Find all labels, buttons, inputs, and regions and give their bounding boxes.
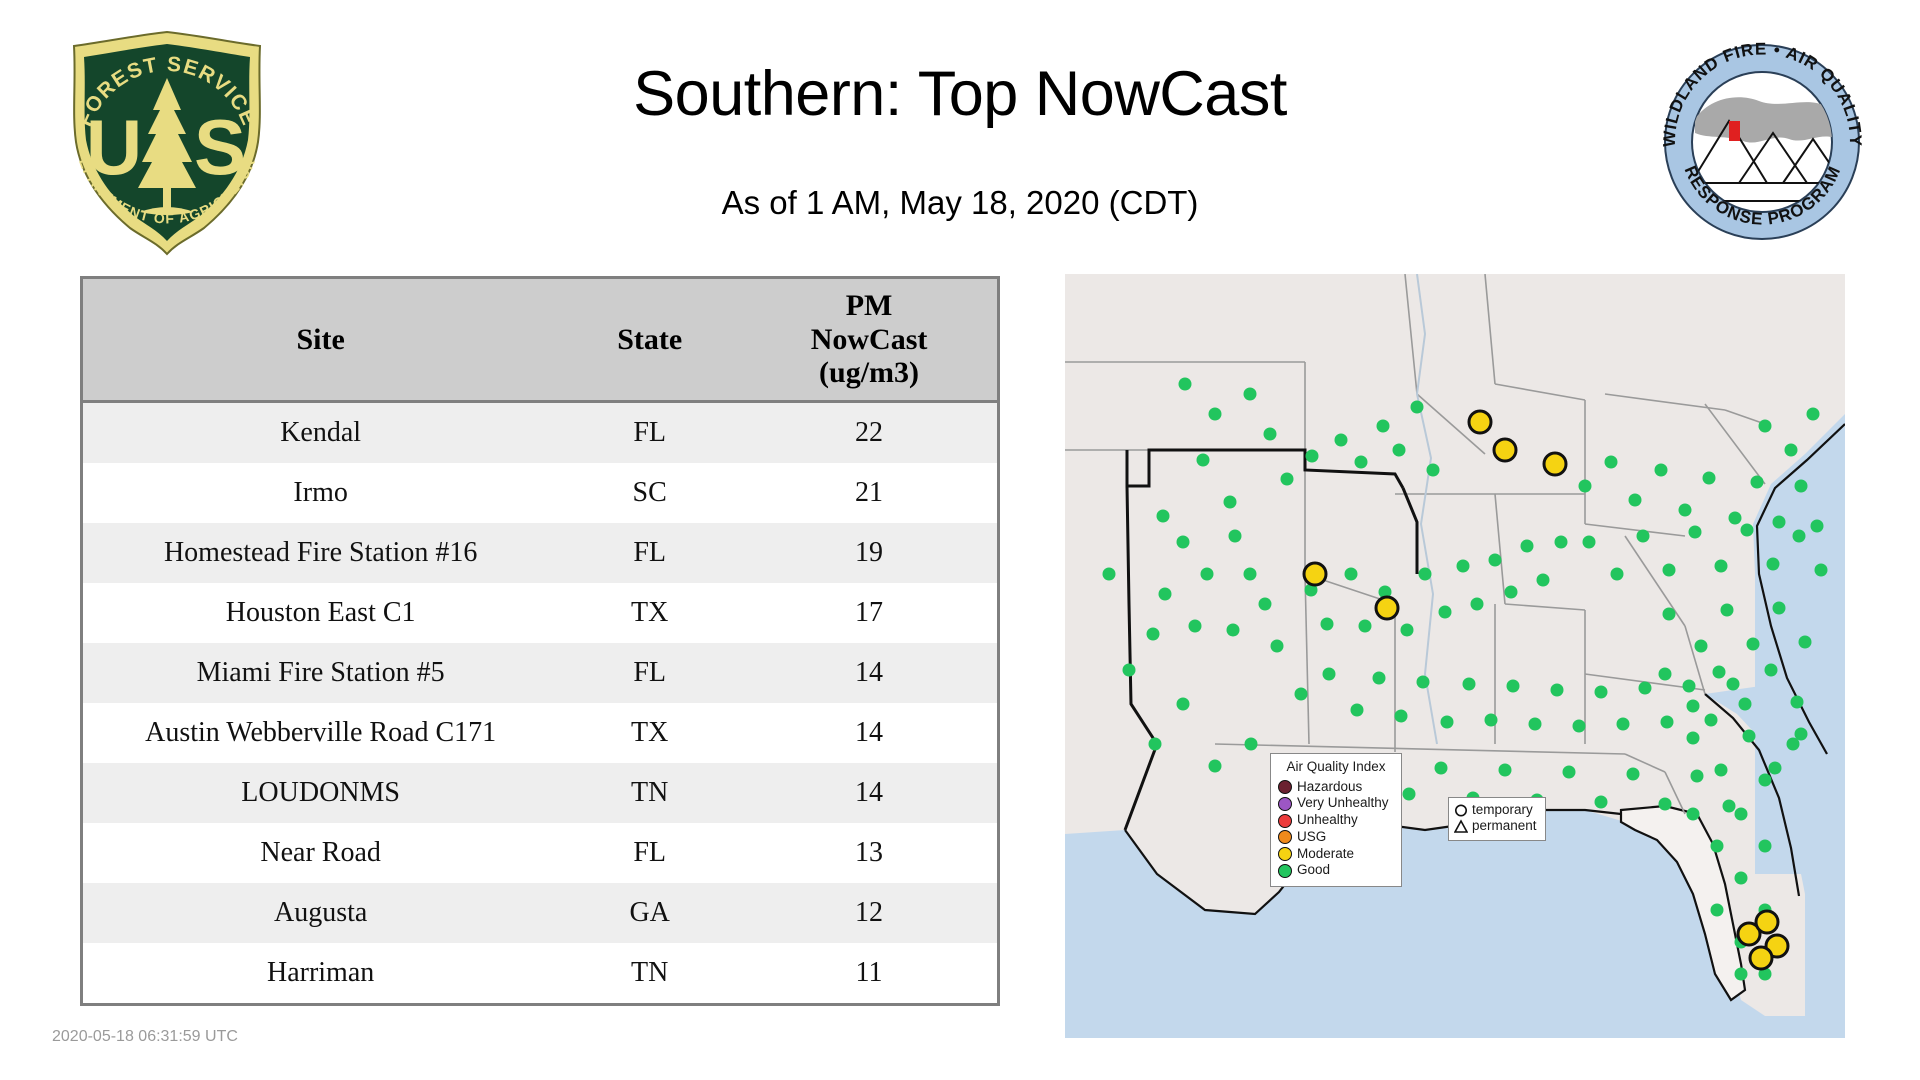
map-marker-moderate[interactable] — [1750, 947, 1772, 969]
aqi-legend-label: Hazardous — [1297, 779, 1362, 796]
map-marker-good[interactable] — [1395, 710, 1408, 723]
aqi-legend-title: Air Quality Index — [1278, 759, 1394, 776]
map-marker-good[interactable] — [1499, 764, 1512, 777]
map-marker-good[interactable] — [1689, 526, 1702, 539]
map-marker-good[interactable] — [1123, 664, 1136, 677]
table-row: Near RoadFL13 — [83, 823, 997, 883]
map-marker-good[interactable] — [1815, 564, 1828, 577]
aqi-legend-item: USG — [1278, 829, 1394, 846]
site-cell: Miami Fire Station #5 — [83, 643, 558, 703]
table-header-row: Site State PM NowCast (ug/m3) — [83, 279, 997, 401]
top-nowcast-table: Site State PM NowCast (ug/m3) KendalFL22… — [80, 276, 1000, 1006]
temporary-circle-icon — [1454, 803, 1468, 818]
map-marker-good[interactable] — [1457, 560, 1470, 573]
table-row: Homestead Fire Station #16FL19 — [83, 523, 997, 583]
map-marker-good[interactable] — [1687, 732, 1700, 745]
column-header-state: State — [558, 279, 741, 401]
table-row: Houston East C1TX17 — [83, 583, 997, 643]
map-marker-good[interactable] — [1351, 704, 1364, 717]
map-marker-good[interactable] — [1419, 568, 1432, 581]
map-marker-good[interactable] — [1505, 586, 1518, 599]
aqi-legend-item: Moderate — [1278, 846, 1394, 863]
value-cell: 14 — [741, 703, 997, 763]
map-marker-good[interactable] — [1355, 456, 1368, 469]
map-marker-good[interactable] — [1411, 401, 1424, 414]
map-marker-good[interactable] — [1637, 530, 1650, 543]
site-cell: Near Road — [83, 823, 558, 883]
map-marker-good[interactable] — [1224, 496, 1237, 509]
map-marker-good[interactable] — [1735, 872, 1748, 885]
map-marker-good[interactable] — [1177, 536, 1190, 549]
site-cell: Harriman — [83, 943, 558, 1003]
state-cell: TX — [558, 703, 741, 763]
state-cell: FL — [558, 401, 741, 463]
value-cell: 22 — [741, 401, 997, 463]
map-marker-good[interactable] — [1335, 434, 1348, 447]
legend-permanent-label: permanent — [1472, 818, 1537, 834]
value-cell: 17 — [741, 583, 997, 643]
site-cell: LOUDONMS — [83, 763, 558, 823]
map-marker-good[interactable] — [1417, 676, 1430, 689]
map-marker-good[interactable] — [1295, 688, 1308, 701]
map-marker-good[interactable] — [1729, 512, 1742, 525]
map-marker-good[interactable] — [1345, 568, 1358, 581]
map-marker-good[interactable] — [1795, 728, 1808, 741]
map-marker-good[interactable] — [1711, 840, 1724, 853]
map-canvas — [1065, 274, 1845, 1038]
map-marker-good[interactable] — [1583, 536, 1596, 549]
state-cell: TN — [558, 943, 741, 1003]
aqi-legend-label: USG — [1297, 829, 1326, 846]
map-marker-good[interactable] — [1521, 540, 1534, 553]
map-marker-good[interactable] — [1773, 602, 1786, 615]
map-marker-good[interactable] — [1713, 666, 1726, 679]
map-marker-good[interactable] — [1306, 450, 1319, 463]
state-cell: FL — [558, 823, 741, 883]
site-cell: Homestead Fire Station #16 — [83, 523, 558, 583]
map-marker-good[interactable] — [1401, 624, 1414, 637]
map-marker-good[interactable] — [1751, 476, 1764, 489]
site-cell: Austin Webberville Road C171 — [83, 703, 558, 763]
map-marker-good[interactable] — [1377, 420, 1390, 433]
pm-label-line1: PM — [745, 289, 993, 323]
table-body: KendalFL22IrmoSC21Homestead Fire Station… — [83, 401, 997, 1003]
map-marker-good[interactable] — [1711, 904, 1724, 917]
table-head: Site State PM NowCast (ug/m3) — [83, 279, 997, 401]
state-cell: SC — [558, 463, 741, 523]
map-marker-good[interactable] — [1661, 716, 1674, 729]
value-cell: 11 — [741, 943, 997, 1003]
state-cell: TX — [558, 583, 741, 643]
map-marker-good[interactable] — [1735, 808, 1748, 821]
map-marker-good[interactable] — [1715, 560, 1728, 573]
map-marker-good[interactable] — [1793, 530, 1806, 543]
map-marker-good[interactable] — [1595, 686, 1608, 699]
map-marker-good[interactable] — [1773, 516, 1786, 529]
aqi-legend-label: Very Unhealthy — [1297, 795, 1389, 812]
map-marker-good[interactable] — [1765, 664, 1778, 677]
map-marker-good[interactable] — [1785, 444, 1798, 457]
map-marker-good[interactable] — [1617, 718, 1630, 731]
map-marker-good[interactable] — [1695, 640, 1708, 653]
map-marker-good[interactable] — [1439, 606, 1452, 619]
map-marker-good[interactable] — [1727, 678, 1740, 691]
aqi-legend-label: Good — [1297, 862, 1330, 879]
map-marker-good[interactable] — [1177, 698, 1190, 711]
map-marker-good[interactable] — [1721, 604, 1734, 617]
map-marker-good[interactable] — [1359, 620, 1372, 633]
map-marker-good[interactable] — [1197, 454, 1210, 467]
map-marker-moderate[interactable] — [1494, 439, 1516, 461]
map-marker-good[interactable] — [1663, 608, 1676, 621]
map-marker-good[interactable] — [1393, 444, 1406, 457]
map-marker-good[interactable] — [1655, 464, 1668, 477]
map-marker-moderate[interactable] — [1756, 911, 1778, 933]
map-marker-good[interactable] — [1159, 588, 1172, 601]
map-marker-good[interactable] — [1149, 738, 1162, 751]
map-marker-good[interactable] — [1683, 680, 1696, 693]
value-cell: 12 — [741, 883, 997, 943]
site-cell: Kendal — [83, 401, 558, 463]
value-cell: 19 — [741, 523, 997, 583]
map-marker-good[interactable] — [1687, 700, 1700, 713]
map-marker-good[interactable] — [1795, 480, 1808, 493]
column-header-site: Site — [83, 279, 558, 401]
map-marker-good[interactable] — [1747, 638, 1760, 651]
map-marker-moderate[interactable] — [1304, 563, 1326, 585]
value-cell: 21 — [741, 463, 997, 523]
legend-temporary: temporary — [1454, 802, 1537, 818]
map-marker-good[interactable] — [1507, 680, 1520, 693]
map-marker-good[interactable] — [1759, 420, 1772, 433]
table-row: HarrimanTN11 — [83, 943, 997, 1003]
permanent-triangle-icon — [1454, 819, 1468, 834]
table-row: AugustaGA12 — [83, 883, 997, 943]
column-header-pm-nowcast: PM NowCast (ug/m3) — [741, 279, 997, 401]
table: Site State PM NowCast (ug/m3) KendalFL22… — [83, 279, 997, 1003]
map-marker-good[interactable] — [1323, 668, 1336, 681]
map-marker-good[interactable] — [1259, 598, 1272, 611]
map-marker-good[interactable] — [1759, 774, 1772, 787]
pm-label-line2: NowCast — [745, 323, 993, 357]
map-marker-good[interactable] — [1627, 768, 1640, 781]
map-marker-good[interactable] — [1799, 636, 1812, 649]
aqi-swatch-icon — [1278, 847, 1292, 861]
map-marker-good[interactable] — [1179, 378, 1192, 391]
map-marker-good[interactable] — [1759, 840, 1772, 853]
map-marker-good[interactable] — [1244, 568, 1257, 581]
map-marker-good[interactable] — [1691, 770, 1704, 783]
map-marker-good[interactable] — [1209, 760, 1222, 773]
aqi-legend: Air Quality Index HazardousVery Unhealth… — [1270, 753, 1402, 887]
page-subtitle: As of 1 AM, May 18, 2020 (CDT) — [0, 184, 1920, 222]
map-marker-good[interactable] — [1321, 618, 1334, 631]
map-marker-good[interactable] — [1687, 808, 1700, 821]
map-marker-good[interactable] — [1629, 494, 1642, 507]
map-marker-good[interactable] — [1264, 428, 1277, 441]
map-marker-good[interactable] — [1679, 504, 1692, 517]
map-marker-good[interactable] — [1471, 598, 1484, 611]
map-marker-good[interactable] — [1147, 628, 1160, 641]
state-cell: TN — [558, 763, 741, 823]
site-type-legend: temporary permanent — [1448, 797, 1546, 841]
map-marker-good[interactable] — [1639, 682, 1652, 695]
map-marker-good[interactable] — [1705, 714, 1718, 727]
state-cell: FL — [558, 523, 741, 583]
table-row: Miami Fire Station #5FL14 — [83, 643, 997, 703]
map-marker-good[interactable] — [1229, 530, 1242, 543]
map-marker-good[interactable] — [1441, 716, 1454, 729]
site-cell: Irmo — [83, 463, 558, 523]
aqi-legend-item: Good — [1278, 862, 1394, 879]
map-marker-good[interactable] — [1611, 568, 1624, 581]
value-cell: 14 — [741, 643, 997, 703]
map-marker-good[interactable] — [1767, 558, 1780, 571]
map-marker-good[interactable] — [1741, 524, 1754, 537]
map-marker-good[interactable] — [1485, 714, 1498, 727]
map-marker-good[interactable] — [1735, 968, 1748, 981]
map-marker-good[interactable] — [1463, 678, 1476, 691]
map-marker-good[interactable] — [1743, 730, 1756, 743]
map-marker-good[interactable] — [1551, 684, 1564, 697]
map-marker-good[interactable] — [1605, 456, 1618, 469]
aqi-swatch-icon — [1278, 830, 1292, 844]
legend-permanent: permanent — [1454, 818, 1537, 834]
site-cell: Augusta — [83, 883, 558, 943]
air-quality-map[interactable] — [1065, 274, 1845, 1038]
map-marker-good[interactable] — [1659, 668, 1672, 681]
map-marker-good[interactable] — [1103, 568, 1116, 581]
pm-label-line3: (ug/m3) — [745, 356, 993, 390]
map-marker-good[interactable] — [1791, 696, 1804, 709]
aqi-legend-item: Unhealthy — [1278, 812, 1394, 829]
legend-temporary-label: temporary — [1472, 802, 1533, 818]
aqi-legend-label: Moderate — [1297, 846, 1354, 863]
site-cell: Houston East C1 — [83, 583, 558, 643]
map-marker-good[interactable] — [1807, 408, 1820, 421]
map-marker-good[interactable] — [1489, 554, 1502, 567]
value-cell: 14 — [741, 763, 997, 823]
map-marker-good[interactable] — [1281, 473, 1294, 486]
aqi-swatch-icon — [1278, 780, 1292, 794]
footer-timestamp: 2020-05-18 06:31:59 UTC — [52, 1028, 238, 1046]
map-marker-good[interactable] — [1209, 408, 1222, 421]
map-marker-good[interactable] — [1739, 698, 1752, 711]
state-cell: GA — [558, 883, 741, 943]
map-marker-good[interactable] — [1659, 798, 1672, 811]
value-cell: 13 — [741, 823, 997, 883]
aqi-legend-item: Very Unhealthy — [1278, 795, 1394, 812]
map-marker-good[interactable] — [1189, 620, 1202, 633]
aqi-swatch-icon — [1278, 864, 1292, 878]
map-marker-good[interactable] — [1555, 536, 1568, 549]
aqi-swatch-icon — [1278, 814, 1292, 828]
map-marker-moderate[interactable] — [1376, 597, 1398, 619]
table-row: LOUDONMSTN14 — [83, 763, 997, 823]
aqi-swatch-icon — [1278, 797, 1292, 811]
map-marker-good[interactable] — [1573, 720, 1586, 733]
map-marker-good[interactable] — [1244, 388, 1257, 401]
map-marker-good[interactable] — [1769, 762, 1782, 775]
page-title: Southern: Top NowCast — [0, 58, 1920, 130]
map-marker-good[interactable] — [1245, 738, 1258, 751]
map-marker-good[interactable] — [1271, 640, 1284, 653]
map-marker-good[interactable] — [1157, 510, 1170, 523]
map-marker-good[interactable] — [1201, 568, 1214, 581]
table-row: Austin Webberville Road C171TX14 — [83, 703, 997, 763]
map-marker-good[interactable] — [1715, 764, 1728, 777]
aqi-legend-label: Unhealthy — [1297, 812, 1358, 829]
map-marker-good[interactable] — [1579, 480, 1592, 493]
map-marker-good[interactable] — [1427, 464, 1440, 477]
map-marker-good[interactable] — [1703, 472, 1716, 485]
state-cell: FL — [558, 643, 741, 703]
map-marker-good[interactable] — [1723, 800, 1736, 813]
map-marker-good[interactable] — [1563, 766, 1576, 779]
map-marker-good[interactable] — [1227, 624, 1240, 637]
map-marker-good[interactable] — [1595, 796, 1608, 809]
table-row: KendalFL22 — [83, 401, 997, 463]
map-marker-good[interactable] — [1537, 574, 1550, 587]
map-marker-good[interactable] — [1663, 564, 1676, 577]
table-row: IrmoSC21 — [83, 463, 997, 523]
map-marker-good[interactable] — [1373, 672, 1386, 685]
map-marker-good[interactable] — [1529, 718, 1542, 731]
map-marker-moderate[interactable] — [1469, 411, 1491, 433]
map-marker-good[interactable] — [1403, 788, 1416, 801]
map-marker-good[interactable] — [1811, 520, 1824, 533]
map-marker-good[interactable] — [1435, 762, 1448, 775]
aqi-legend-item: Hazardous — [1278, 779, 1394, 796]
map-marker-moderate[interactable] — [1544, 453, 1566, 475]
